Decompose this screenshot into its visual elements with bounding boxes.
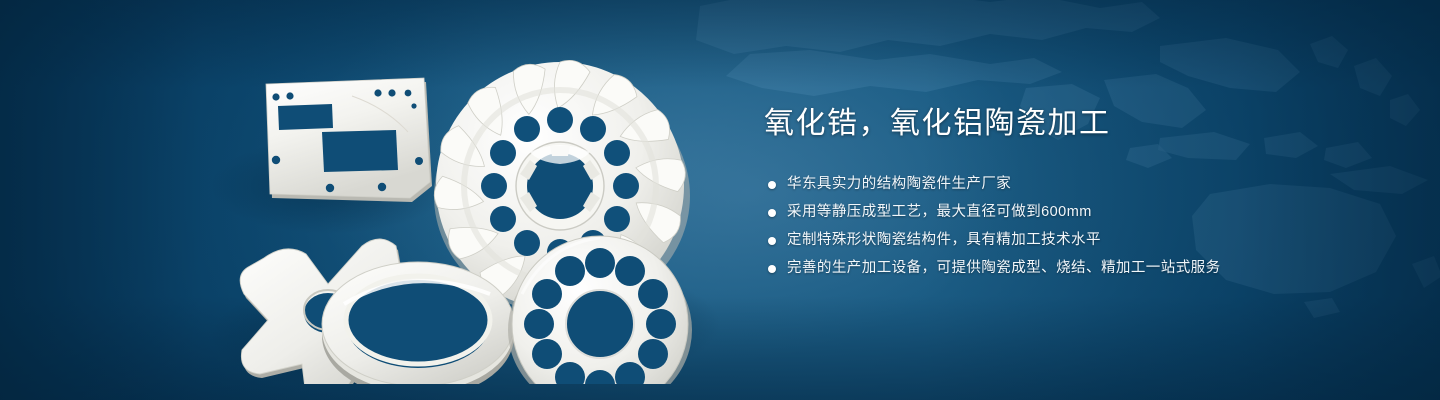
feature-text: 定制特殊形状陶瓷结构件，具有精加工技术水平 <box>787 230 1101 251</box>
list-item: 采用等静压成型工艺，最大直径可做到600mm <box>768 202 1384 223</box>
ceramic-cutout-plate <box>266 78 432 202</box>
feature-text: 华东具实力的结构陶瓷件生产厂家 <box>787 174 1011 195</box>
bullet-dot-icon <box>768 181 776 189</box>
banner-copy: 氧化锆，氧化铝陶瓷加工 华东具实力的结构陶瓷件生产厂家 采用等静压成型工艺，最大… <box>764 104 1384 286</box>
bullet-dot-icon <box>768 265 776 273</box>
feature-list: 华东具实力的结构陶瓷件生产厂家 采用等静压成型工艺，最大直径可做到600mm 定… <box>768 174 1384 279</box>
ceramic-products-photo <box>180 36 720 384</box>
list-item: 华东具实力的结构陶瓷件生产厂家 <box>768 174 1384 195</box>
promo-banner: 氧化锆，氧化铝陶瓷加工 华东具实力的结构陶瓷件生产厂家 采用等静压成型工艺，最大… <box>0 0 1440 400</box>
banner-headline: 氧化锆，氧化铝陶瓷加工 <box>764 104 1384 144</box>
bullet-dot-icon <box>768 237 776 245</box>
ceramic-thick-ring <box>322 262 514 384</box>
bullet-dot-icon <box>768 209 776 217</box>
feature-text: 采用等静压成型工艺，最大直径可做到600mm <box>787 202 1092 223</box>
list-item: 完善的生产加工设备，可提供陶瓷成型、烧结、精加工一站式服务 <box>768 258 1384 279</box>
feature-text: 完善的生产加工设备，可提供陶瓷成型、烧结、精加工一站式服务 <box>787 258 1221 279</box>
list-item: 定制特殊形状陶瓷结构件，具有精加工技术水平 <box>768 230 1384 251</box>
